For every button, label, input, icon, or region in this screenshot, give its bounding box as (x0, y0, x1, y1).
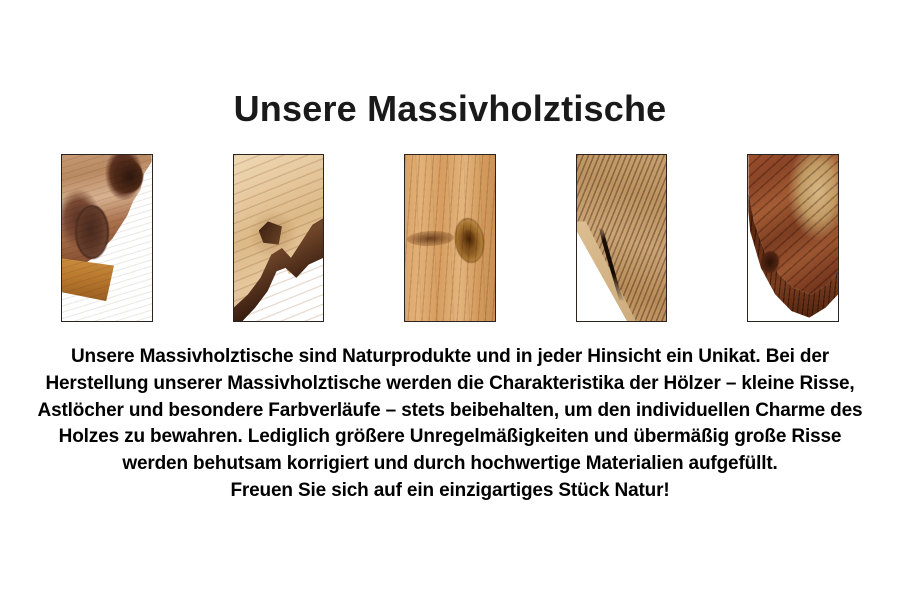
photo-1-grain-texture (62, 155, 152, 321)
photo-rough-sawn-board-crack (577, 155, 667, 321)
photo-frame-2[interactable]: Helle Massivholzplatte mit dunkler natue… (233, 154, 325, 322)
product-info-banner: Unsere Massivholztische Massivholz-Tisch… (0, 0, 900, 600)
photo-3-grain-texture (405, 155, 495, 321)
page-title: Unsere Massivholztische (0, 88, 900, 129)
photo-frame-3[interactable]: Holzmaserung mit Astloch und Farbverlauf (404, 154, 496, 322)
photo-light-wood-live-edge (234, 155, 324, 321)
body-copy-line-5: werden behutsam korrigiert und durch hoc… (22, 451, 878, 478)
photo-frame-1[interactable]: Massivholz-Tischplatte mit dunklem Maser… (61, 154, 153, 322)
body-copy-line-4: Holzes zu bewahren. Lediglich größere Un… (22, 424, 878, 451)
photo-frame-4[interactable]: Saegeraue Mangoholzplatte mit Riss (576, 154, 668, 322)
photo-sheesham-corner (748, 155, 838, 321)
body-copy-line-1: Unsere Massivholztische sind Naturproduk… (22, 344, 878, 371)
body-copy-line-6: Freuen Sie sich auf ein einzigartiges St… (22, 478, 878, 505)
body-copy: Unsere Massivholztische sind Naturproduk… (22, 344, 878, 505)
body-copy-line-2: Herstellung unserer Massivholztische wer… (22, 371, 878, 398)
photo-frame-5[interactable]: Sheesham Massivholz Tischplattenecke mit… (747, 154, 839, 322)
body-copy-line-3: Astlöcher und besondere Farbverläufe – s… (22, 398, 878, 425)
wood-detail-gallery: Massivholz-Tischplatte mit dunklem Maser… (21, 138, 879, 306)
photo-wood-grain-knot (405, 155, 495, 321)
photo-wood-slab-burl-corner (62, 155, 152, 321)
